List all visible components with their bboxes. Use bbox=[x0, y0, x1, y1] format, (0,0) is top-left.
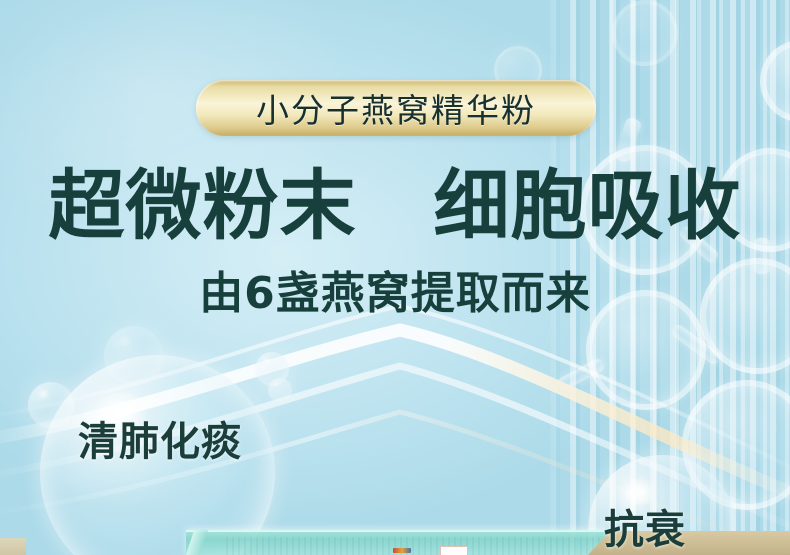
product-label-stripe bbox=[393, 548, 411, 553]
page-subtitle: 由6盏燕窝提取而来 bbox=[0, 272, 790, 316]
page-title: 超微粉末 细胞吸收 bbox=[0, 168, 790, 244]
benefit-label-lung: 清肺化痰 bbox=[78, 409, 242, 467]
product-texture bbox=[226, 537, 600, 555]
product-kraft-corner bbox=[0, 538, 26, 555]
product-badge-label: 小分子燕窝精华粉 bbox=[256, 84, 536, 132]
product-label-tag bbox=[440, 546, 468, 555]
product-poster: 小分子燕窝精华粉 超微粉末 细胞吸收 由6盏燕窝提取而来 清肺化痰 抗衰 bbox=[0, 0, 790, 555]
product-badge: 小分子燕窝精华粉 bbox=[196, 80, 596, 136]
soap-bubble-icon bbox=[268, 378, 292, 402]
molecule-ring-icon bbox=[612, 0, 678, 66]
benefit-label-antiaging: 抗衰 bbox=[604, 497, 686, 555]
